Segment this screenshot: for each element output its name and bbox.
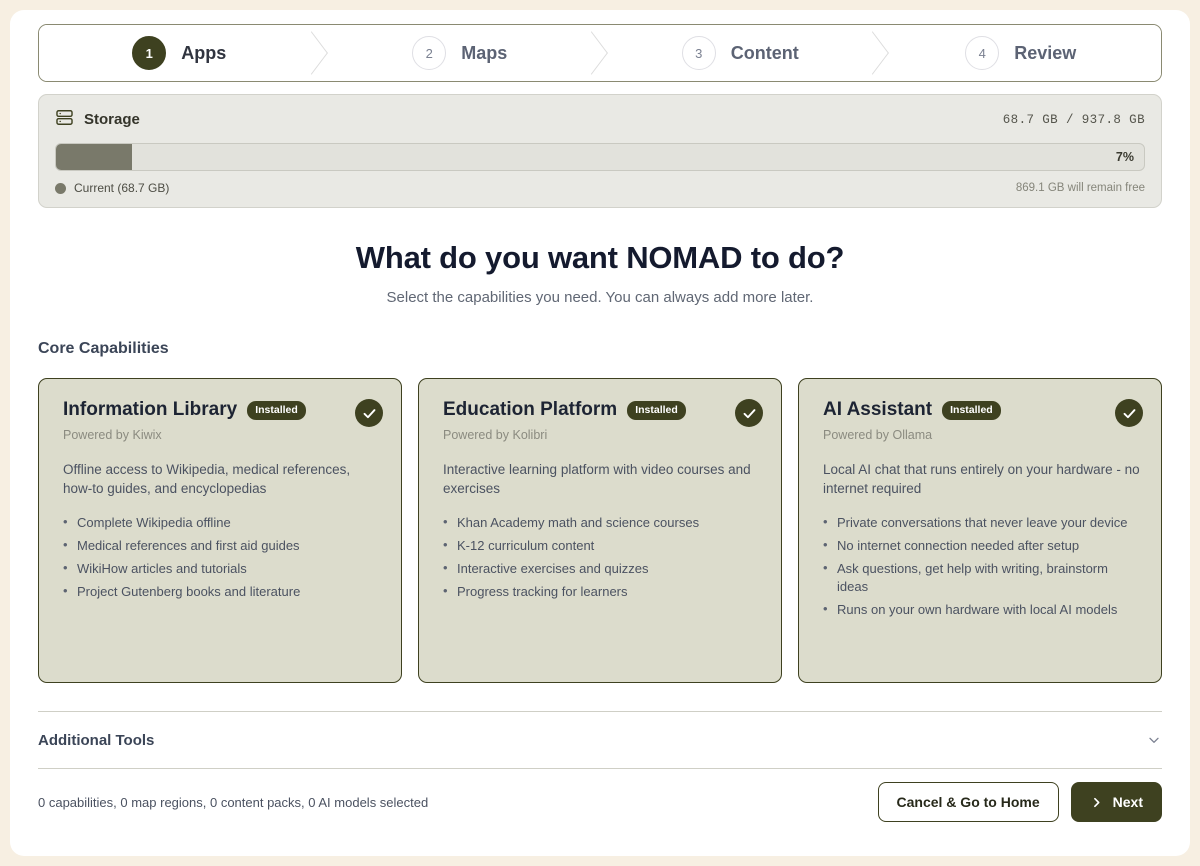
installed-badge: Installed [942, 401, 1001, 420]
list-item: WikiHow articles and tutorials [63, 560, 381, 578]
card-title: AI Assistant [823, 399, 932, 421]
footer-actions: Cancel & Go to Home Next [878, 782, 1163, 822]
list-item: Private conversations that never leave y… [823, 514, 1141, 532]
card-description: Interactive learning platform with video… [443, 460, 761, 498]
storage-footer: Current (68.7 GB) 869.1 GB will remain f… [55, 181, 1145, 195]
storage-legend-label: Current (68.7 GB) [74, 181, 169, 195]
legend-swatch-icon [55, 183, 66, 194]
step-review-label: Review [1014, 43, 1076, 64]
step-review[interactable]: 4 Review [881, 25, 1162, 81]
wizard-stepper: 1 Apps 2 Maps 3 Content 4 Review [38, 24, 1162, 82]
next-button-label: Next [1113, 794, 1143, 810]
selected-check-icon[interactable] [355, 399, 383, 427]
card-title: Information Library [63, 399, 237, 421]
step-apps-label: Apps [181, 43, 226, 64]
hard-drive-icon [55, 108, 74, 131]
step-content[interactable]: 3 Content [600, 25, 881, 81]
chevron-right-icon [1090, 796, 1103, 809]
storage-legend: Current (68.7 GB) [55, 181, 169, 195]
list-item: Interactive exercises and quizzes [443, 560, 761, 578]
list-item: No internet connection needed after setu… [823, 537, 1141, 555]
cancel-go-home-button[interactable]: Cancel & Go to Home [878, 782, 1059, 822]
card-description: Offline access to Wikipedia, medical ref… [63, 460, 381, 498]
wizard-page: 1 Apps 2 Maps 3 Content 4 Review [10, 10, 1190, 856]
step-apps[interactable]: 1 Apps [39, 25, 320, 81]
step-review-number: 4 [965, 36, 999, 70]
card-feature-list: Khan Academy math and science courses K-… [443, 514, 761, 601]
step-content-number: 3 [682, 36, 716, 70]
capability-card-information-library[interactable]: Information Library Installed Powered by… [38, 378, 402, 683]
list-item: K-12 curriculum content [443, 537, 761, 555]
list-item: Progress tracking for learners [443, 583, 761, 601]
card-powered-by: Powered by Kolibri [443, 428, 761, 442]
list-item: Khan Academy math and science courses [443, 514, 761, 532]
storage-remaining-label: 869.1 GB will remain free [1016, 182, 1145, 194]
page-headline: What do you want NOMAD to do? Select the… [38, 240, 1162, 306]
installed-badge: Installed [247, 401, 306, 420]
storage-progress-fill [56, 144, 132, 170]
page-subtitle: Select the capabilities you need. You ca… [38, 289, 1162, 306]
storage-header: Storage 68.7 GB / 937.8 GB [55, 108, 1145, 131]
card-title: Education Platform [443, 399, 617, 421]
additional-tools-label: Additional Tools [38, 732, 154, 749]
page-title: What do you want NOMAD to do? [38, 240, 1162, 276]
storage-capacity: 68.7 GB / 937.8 GB [1003, 113, 1145, 127]
card-title-row: Information Library Installed [63, 399, 381, 421]
card-title-row: AI Assistant Installed [823, 399, 1141, 421]
list-item: Project Gutenberg books and literature [63, 583, 381, 601]
step-maps-number: 2 [412, 36, 446, 70]
card-feature-list: Complete Wikipedia offline Medical refer… [63, 514, 381, 601]
card-title-row: Education Platform Installed [443, 399, 761, 421]
step-maps[interactable]: 2 Maps [320, 25, 601, 81]
installed-badge: Installed [627, 401, 686, 420]
storage-panel: Storage 68.7 GB / 937.8 GB 7% Current (6… [38, 94, 1162, 208]
app-window: 1 Apps 2 Maps 3 Content 4 Review [10, 10, 1190, 856]
list-item: Complete Wikipedia offline [63, 514, 381, 532]
additional-tools-row[interactable]: Additional Tools [38, 712, 1162, 768]
capability-card-education-platform[interactable]: Education Platform Installed Powered by … [418, 378, 782, 683]
step-content-label: Content [731, 43, 799, 64]
next-button[interactable]: Next [1071, 782, 1162, 822]
selected-check-icon[interactable] [1115, 399, 1143, 427]
capability-card-ai-assistant[interactable]: AI Assistant Installed Powered by Ollama… [798, 378, 1162, 683]
capability-card-list: Information Library Installed Powered by… [38, 378, 1162, 683]
chevron-down-icon[interactable] [1146, 732, 1162, 748]
card-description: Local AI chat that runs entirely on your… [823, 460, 1141, 498]
step-maps-label: Maps [461, 43, 507, 64]
core-capabilities-heading: Core Capabilities [38, 340, 1162, 358]
card-powered-by: Powered by Ollama [823, 428, 1141, 442]
wizard-footer: 0 capabilities, 0 map regions, 0 content… [38, 769, 1162, 835]
storage-percent-label: 7% [1116, 150, 1134, 164]
storage-progress-bar: 7% [55, 143, 1145, 171]
selection-summary: 0 capabilities, 0 map regions, 0 content… [38, 795, 428, 810]
storage-title-label: Storage [84, 111, 140, 128]
selected-check-icon[interactable] [735, 399, 763, 427]
list-item: Ask questions, get help with writing, br… [823, 560, 1141, 596]
card-feature-list: Private conversations that never leave y… [823, 514, 1141, 619]
list-item: Medical references and first aid guides [63, 537, 381, 555]
storage-title-group: Storage [55, 108, 140, 131]
list-item: Runs on your own hardware with local AI … [823, 601, 1141, 619]
card-powered-by: Powered by Kiwix [63, 428, 381, 442]
step-apps-number: 1 [132, 36, 166, 70]
